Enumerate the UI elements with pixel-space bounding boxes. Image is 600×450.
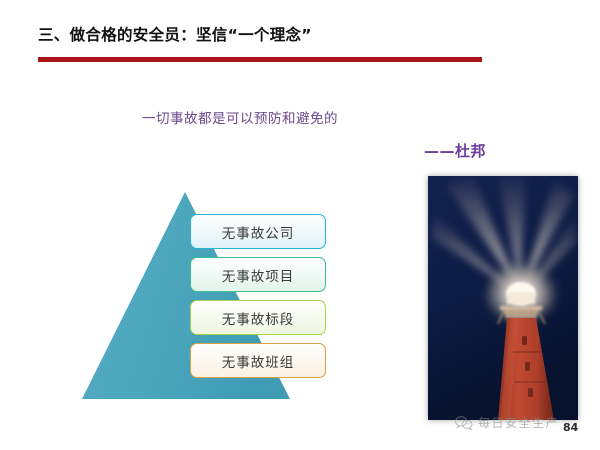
pyramid-level-company[interactable]: 无事故公司 [190,214,326,249]
title-underline-rule [38,57,482,62]
pyramid-level-label: 无事故班组 [222,351,295,371]
pyramid-level-label: 无事故标段 [222,308,295,328]
lighthouse-photo [428,176,578,420]
lighthouse-night-illustration [428,176,578,420]
pyramid-level-project[interactable]: 无事故项目 [190,257,326,292]
pyramid-level-label: 无事故项目 [222,265,295,285]
watermark: 每日安全生产 [455,414,559,431]
pyramid-level-label: 无事故公司 [222,222,295,242]
page-title: 三、做合格的安全员：坚信“一个理念” [38,23,312,45]
watermark-label: 每日安全生产 [478,414,559,431]
slide-canvas: 三、做合格的安全员：坚信“一个理念” 一切事故都是可以预防和避免的 ——杜邦 无… [0,0,600,450]
pyramid-level-team[interactable]: 无事故班组 [190,343,326,378]
wechat-icon [455,416,473,430]
page-number: 84 [563,421,578,434]
quote-statement: 一切事故都是可以预防和避免的 [0,107,600,127]
pyramid-level-section[interactable]: 无事故标段 [190,300,326,335]
quote-attribution: ——杜邦 [424,140,486,161]
